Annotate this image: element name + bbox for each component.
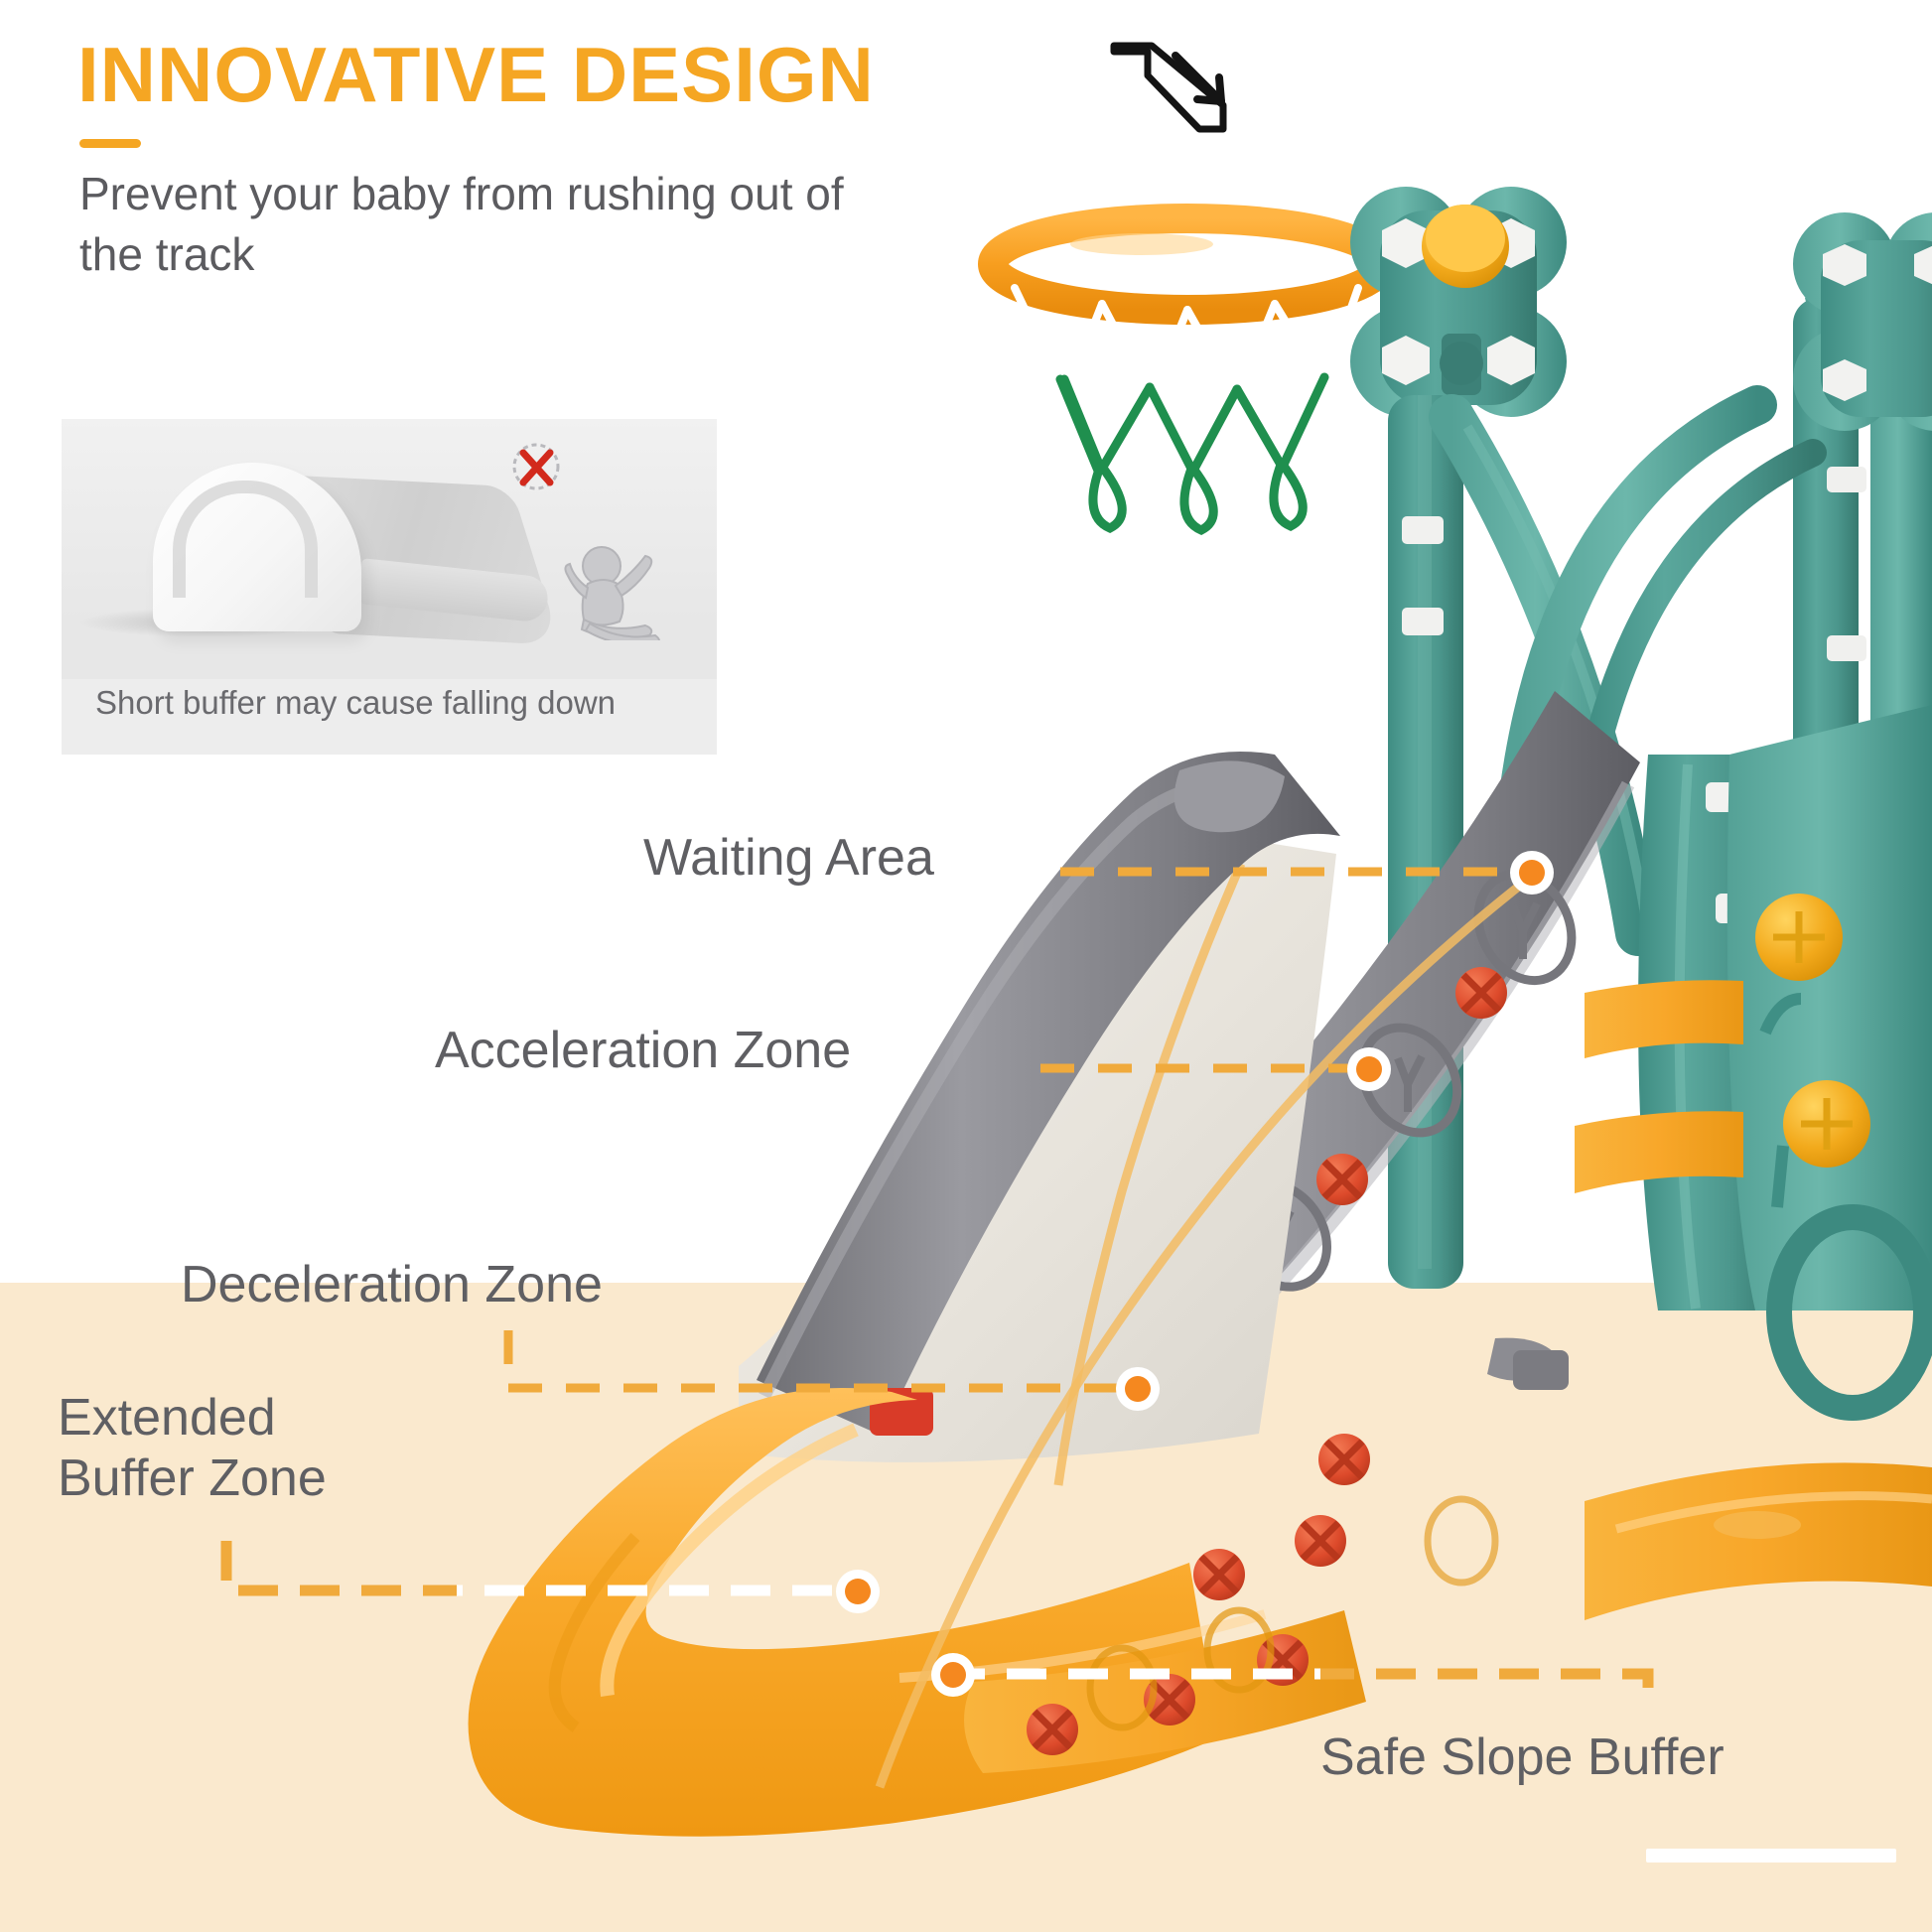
callout-label-safe-slope-buffer: Safe Slope Buffer bbox=[1320, 1727, 1725, 1788]
inset-caption: Short buffer may cause falling down bbox=[95, 685, 691, 721]
falling-child-figure bbox=[558, 536, 677, 640]
basketball-hoop bbox=[993, 218, 1382, 530]
title-underline bbox=[79, 139, 141, 148]
base-foot bbox=[1585, 1462, 1932, 1620]
hoop-net-green bbox=[1060, 377, 1324, 530]
red-x-icon bbox=[510, 441, 562, 492]
callout-label-deceleration-zone: Deceleration Zone bbox=[181, 1255, 603, 1315]
slide-down-arrow-icon bbox=[1104, 40, 1233, 149]
bottom-accent-bar bbox=[1646, 1849, 1896, 1863]
callout-label-waiting-area: Waiting Area bbox=[643, 828, 934, 889]
warning-inset-card: Short buffer may cause falling down bbox=[62, 419, 717, 755]
infographic-canvas: INNOVATIVE DESIGN Prevent your baby from… bbox=[0, 0, 1932, 1932]
callout-label-acceleration-zone: Acceleration Zone bbox=[435, 1021, 851, 1081]
page-title: INNOVATIVE DESIGN bbox=[77, 36, 875, 113]
product-illustration bbox=[0, 0, 1932, 1932]
inset-photo bbox=[62, 419, 717, 679]
page-subtitle: Prevent your baby from rushing out of th… bbox=[79, 164, 854, 284]
callout-label-extended-buffer-zone: Extended Buffer Zone bbox=[58, 1388, 327, 1510]
